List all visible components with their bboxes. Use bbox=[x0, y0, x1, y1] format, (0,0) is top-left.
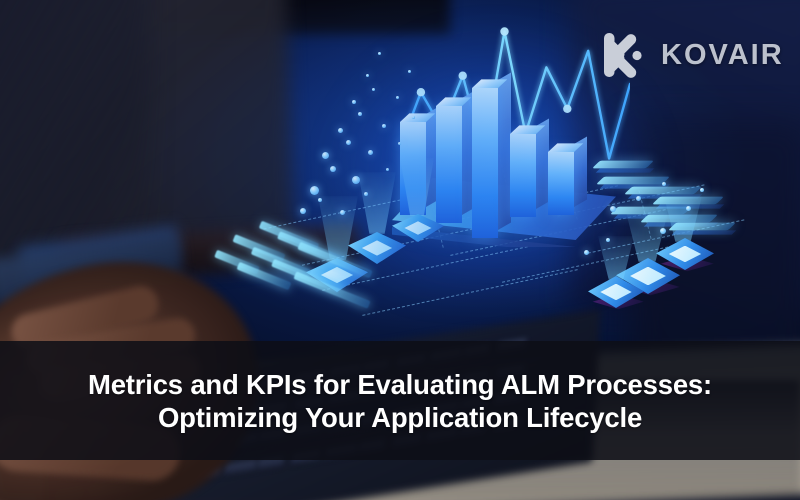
chip-icon bbox=[392, 214, 444, 242]
bar-face bbox=[436, 106, 462, 223]
particle-dot bbox=[330, 166, 336, 172]
particle-dot bbox=[382, 124, 386, 128]
particle-dot bbox=[352, 176, 360, 184]
floating-slat bbox=[592, 161, 654, 169]
bar bbox=[510, 134, 536, 217]
kovair-logo[interactable]: KOVAIR bbox=[604, 30, 784, 80]
particle-dot bbox=[352, 100, 356, 104]
title-overlay-band: Metrics and KPIs for Evaluating ALM Proc… bbox=[0, 341, 800, 460]
particle-dot bbox=[368, 150, 373, 155]
chip-icon bbox=[656, 238, 714, 270]
particle-dot bbox=[364, 192, 368, 196]
particle-dot bbox=[340, 210, 345, 215]
particle-dot bbox=[686, 206, 691, 211]
particle-dot bbox=[366, 74, 369, 77]
bar bbox=[436, 106, 462, 223]
particle-dot bbox=[408, 70, 411, 73]
particle-dot bbox=[346, 140, 351, 145]
particle-dot bbox=[396, 96, 399, 99]
bar-face bbox=[472, 88, 498, 238]
bar bbox=[472, 88, 498, 238]
page-title: Metrics and KPIs for Evaluating ALM Proc… bbox=[20, 368, 780, 434]
bar-face bbox=[510, 134, 536, 217]
bar-face bbox=[548, 152, 574, 215]
particle-dot bbox=[318, 198, 322, 202]
particle-dot bbox=[662, 182, 666, 186]
floating-slat bbox=[624, 187, 702, 195]
particle-dot bbox=[606, 238, 610, 242]
particle-dot bbox=[322, 152, 329, 159]
particle-dot bbox=[412, 116, 415, 119]
particle-dot bbox=[310, 186, 319, 195]
particle-dot bbox=[300, 208, 306, 214]
bar bbox=[548, 152, 574, 215]
kovair-wordmark: KOVAIR bbox=[661, 39, 784, 72]
banner-image: KOVAIR Metrics and KPIs for Evaluating A… bbox=[0, 0, 800, 500]
particle-dot bbox=[700, 188, 704, 192]
particle-dot bbox=[610, 206, 616, 212]
particle-dot bbox=[636, 196, 641, 201]
particle-dot bbox=[584, 250, 589, 255]
chip-icon bbox=[588, 276, 644, 308]
particle-dot bbox=[338, 128, 343, 133]
particle-dot bbox=[660, 228, 666, 234]
floating-slat bbox=[596, 177, 670, 185]
kovair-k-logo-icon bbox=[604, 30, 650, 80]
particle-dot bbox=[358, 112, 362, 116]
title-line-2: Optimizing Your Application Lifecycle bbox=[20, 401, 780, 434]
floating-slat-side bbox=[596, 168, 654, 172]
title-line-1: Metrics and KPIs for Evaluating ALM Proc… bbox=[20, 368, 780, 401]
particle-dot bbox=[386, 168, 389, 171]
particle-dot bbox=[372, 88, 375, 91]
particle-dot bbox=[378, 52, 381, 55]
particle-dot bbox=[398, 142, 401, 145]
